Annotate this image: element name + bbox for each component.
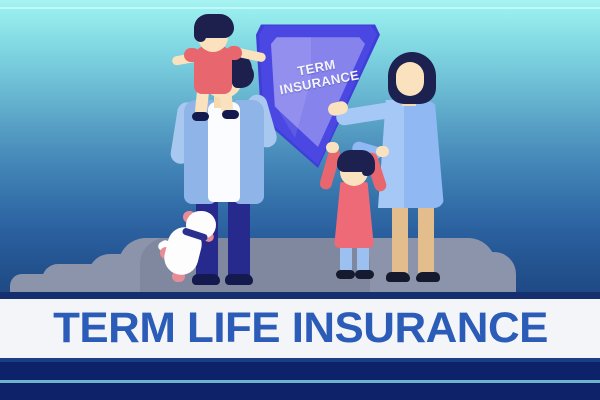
banner-navy-band-2 [0, 362, 600, 382]
woman-shoe-right [416, 272, 440, 282]
shoulder-child-hair-side [194, 22, 206, 42]
shoulder-child-shoe-right [222, 110, 239, 119]
pink-child-shoe-right [355, 270, 374, 279]
shoulder-child-sleeve-right [226, 46, 242, 60]
child-pink-figure [326, 148, 396, 288]
term-life-insurance-banner: TERM INSURANCE [0, 0, 600, 400]
pink-child-dress [334, 182, 374, 248]
man-shoe-right [225, 274, 253, 285]
pink-child-hand-right [376, 146, 389, 157]
dog-figure [160, 205, 222, 287]
shoulder-child-shoe-left [192, 112, 209, 121]
woman-leg-right [418, 202, 434, 278]
pink-child-shoe-left [336, 270, 355, 279]
pink-child-hand-left [326, 142, 339, 153]
banner-navy-band-3 [0, 383, 600, 400]
page-title: TERM LIFE INSURANCE [53, 307, 548, 350]
illustration-scene: TERM INSURANCE [0, 0, 600, 292]
woman-face [396, 62, 424, 96]
shoulder-child-sleeve-left [184, 48, 200, 62]
ground-platform [0, 228, 600, 292]
banner-title-band: TERM LIFE INSURANCE [0, 299, 600, 358]
sky-highlight-line [0, 7, 600, 9]
child-on-shoulders-figure [178, 12, 288, 122]
banner-top-navy-band [0, 292, 600, 299]
